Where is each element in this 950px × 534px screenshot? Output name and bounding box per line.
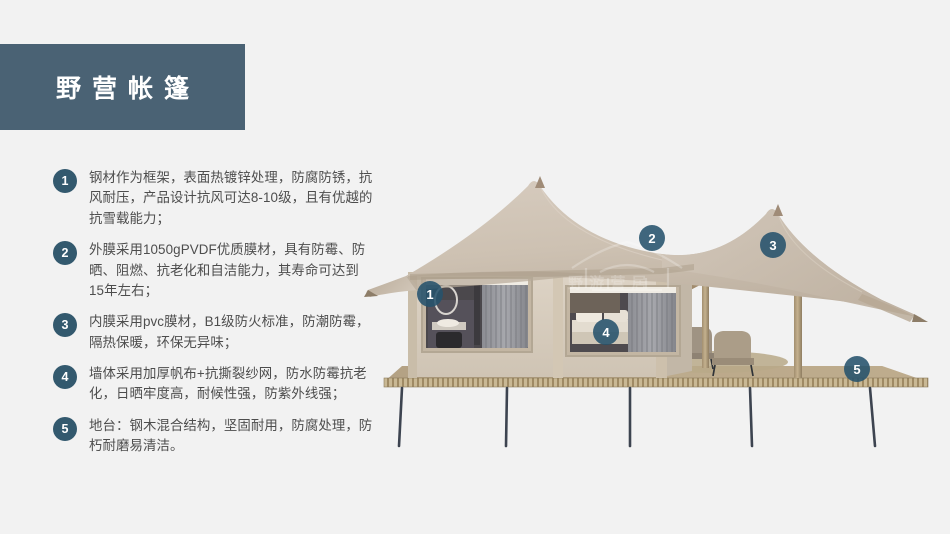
feature-badge-5: 5	[53, 417, 77, 441]
image-marker-4[interactable]: 4	[593, 319, 619, 345]
page-title: 野营帐篷	[45, 69, 200, 105]
feature-text-1: 钢材作为框架，表面热镀锌处理，防腐防锈，抗风耐压，产品设计抗风可达8-10级，且…	[89, 168, 373, 229]
glamping-tent-photo: 野 游 营 居 1 2 3 4 5	[362, 150, 950, 470]
feature-list: 1 钢材作为框架，表面热镀锌处理，防腐防锈，抗风耐压，产品设计抗风可达8-10级…	[53, 168, 373, 468]
feature-text-5: 地台：钢木混合结构，坚固耐用，防腐处理，防朽耐磨易清洁。	[89, 416, 373, 457]
image-marker-2[interactable]: 2	[639, 225, 665, 251]
window-bedroom	[566, 286, 680, 356]
feature-text-4: 墙体采用加厚帆布+抗撕裂纱网，防水防霉抗老化，日晒牢度高，耐候性强，防紫外线强；	[89, 364, 373, 405]
feature-text-2: 外膜采用1050gPVDF优质膜材，具有防霉、防晒、阻燃、抗老化和自洁能力，其寿…	[89, 240, 373, 301]
slide-root: 野营帐篷 1 钢材作为框架，表面热镀锌处理，防腐防锈，抗风耐压，产品设计抗风可达…	[0, 0, 950, 534]
tent-illustration-svg	[362, 150, 950, 470]
feature-text-3: 内膜采用pvc膜材，B1级防火标准，防潮防霉，隔热保暖，环保无异味；	[89, 312, 373, 353]
feature-badge-2: 2	[53, 241, 77, 265]
image-marker-1[interactable]: 1	[417, 281, 443, 307]
title-banner: 野营帐篷	[0, 44, 245, 130]
list-item: 5 地台：钢木混合结构，坚固耐用，防腐处理，防朽耐磨易清洁。	[53, 416, 373, 457]
image-marker-3[interactable]: 3	[760, 232, 786, 258]
feature-badge-3: 3	[53, 313, 77, 337]
list-item: 1 钢材作为框架，表面热镀锌处理，防腐防锈，抗风耐压，产品设计抗风可达8-10级…	[53, 168, 373, 229]
feature-badge-1: 1	[53, 169, 77, 193]
list-item: 2 外膜采用1050gPVDF优质膜材，具有防霉、防晒、阻燃、抗老化和自洁能力，…	[53, 240, 373, 301]
image-marker-5[interactable]: 5	[844, 356, 870, 382]
list-item: 4 墙体采用加厚帆布+抗撕裂纱网，防水防霉抗老化，日晒牢度高，耐候性强，防紫外线…	[53, 364, 373, 405]
list-item: 3 内膜采用pvc膜材，B1级防火标准，防潮防霉，隔热保暖，环保无异味；	[53, 312, 373, 353]
feature-badge-4: 4	[53, 365, 77, 389]
